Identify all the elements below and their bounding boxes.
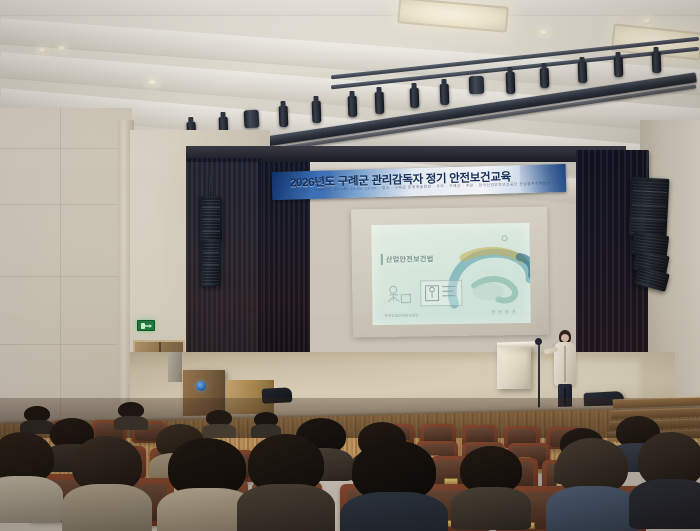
projected-slide: 산업안전보건법 한국산업안전보건공 — [371, 223, 530, 325]
audience-member — [72, 436, 142, 528]
audience-member — [118, 402, 144, 428]
audience-member — [638, 432, 700, 522]
slide-illustration-right — [420, 280, 462, 307]
speaker-array-left — [200, 196, 222, 242]
stage-light — [614, 57, 624, 77]
stage-light — [652, 52, 662, 73]
stage-light — [410, 88, 420, 108]
stage-light — [375, 92, 385, 114]
audience-member — [168, 438, 246, 531]
auditorium-photo: 2026년도 구례군 관리감독자 정기 안전보건교육 일시 · 2026. 1.… — [0, 0, 700, 531]
audience-member — [0, 432, 54, 516]
slide-decorative-circle — [501, 235, 507, 241]
speaker-array-left-lower — [201, 240, 222, 286]
stage-light — [279, 106, 289, 127]
audience-member — [556, 438, 628, 530]
stage-light — [348, 96, 358, 117]
audience-member — [254, 412, 278, 436]
audience-member — [248, 434, 324, 530]
lectern-emblem-icon — [196, 381, 206, 391]
stage-light — [578, 62, 588, 83]
wall-left — [0, 108, 132, 438]
stage-curtain-center — [186, 158, 262, 364]
stage-light-fresnel — [244, 110, 260, 129]
stage-light — [506, 72, 516, 94]
audience-member — [24, 406, 50, 432]
stage-light-fresnel — [469, 76, 485, 95]
speaker-rigging-right — [646, 150, 649, 180]
audience-area — [0, 398, 700, 531]
audience-member — [460, 446, 522, 524]
stage-light — [540, 68, 550, 88]
projection-screen: 산업안전보건법 한국산업안전보건공 — [351, 207, 549, 338]
stage-lectern-highlight — [500, 352, 528, 386]
presenter-face — [561, 334, 569, 342]
slide-illustration-left — [384, 283, 412, 307]
speaker-array-right — [629, 177, 670, 237]
slide-footer-label: 한국산업안전보건공단 — [385, 312, 419, 317]
stage-light — [312, 101, 322, 123]
audience-member — [352, 440, 436, 531]
audience-member — [206, 410, 232, 436]
stage-light — [440, 84, 450, 105]
slide-title: 산업안전보건법 — [386, 254, 434, 265]
av-equipment-rack — [168, 352, 182, 382]
slide-signature: 안 전 보 건 — [491, 309, 516, 315]
speaker-rigging-left — [209, 176, 211, 198]
slide-title-accent — [381, 254, 383, 265]
exit-sign-icon — [137, 320, 155, 331]
microphone-icon — [535, 338, 542, 345]
